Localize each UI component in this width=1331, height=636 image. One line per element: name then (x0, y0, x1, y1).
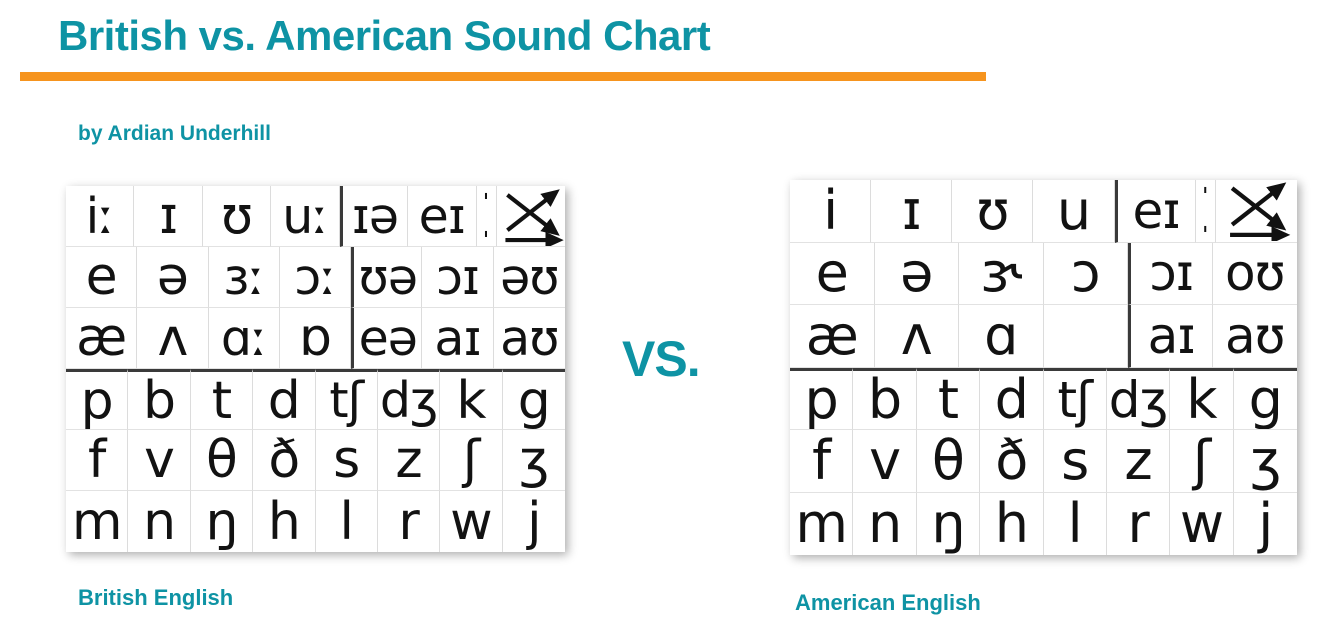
byline: by Ardian Underhill (78, 122, 271, 146)
ipa-row: æʌɑːɒeəaɪaʊ (66, 308, 565, 369)
ipa-symbol: eɪ (1133, 186, 1180, 236)
ipa-symbol: æ (76, 312, 126, 364)
ipa-symbol: g (1249, 373, 1282, 427)
vs-label: VS. (622, 330, 700, 388)
ipa-row: mnŋhlrwj (790, 493, 1297, 556)
ipa-cell-v[interactable]: v (853, 430, 916, 493)
ipa-symbol: l (1068, 497, 1082, 551)
ipa-symbol: ʃ (463, 434, 479, 486)
chart-block-american: iɪʊueɪˈˌeəɝɔɔɪoʊæʌɑaɪaʊpbtdtʃdʒkgfvθðszʃ… (790, 180, 1297, 555)
ipa-symbol: i (823, 184, 837, 238)
ipa-cell-s[interactable]: s (1044, 430, 1107, 493)
ipa-cell-aʊ[interactable]: aʊ (1213, 305, 1298, 368)
ipa-row: æʌɑaɪaʊ (790, 305, 1297, 368)
ipa-cell-l[interactable]: l (316, 491, 378, 552)
ipa-cell-ʊ[interactable]: ʊ (952, 180, 1033, 243)
ipa-cell-w[interactable]: w (440, 491, 502, 552)
ipa-symbol: w (1180, 497, 1223, 551)
ipa-cell-ɪ[interactable]: ɪ (871, 180, 952, 243)
ipa-cell-m[interactable]: m (66, 491, 128, 552)
ipa-cell-b[interactable]: b (853, 368, 916, 431)
ipa-symbol: oʊ (1225, 248, 1284, 298)
ipa-symbol: eə (359, 314, 417, 363)
ipa-symbol: ʃ (1193, 434, 1210, 488)
ipa-symbol: ʌ (158, 312, 188, 364)
ipa-cell-dʒ[interactable]: dʒ (378, 369, 440, 430)
ipa-cell-aɪ[interactable]: aɪ (422, 308, 493, 369)
ipa-symbol: t (212, 375, 231, 427)
ipa-symbol: s (333, 434, 359, 486)
ipa-symbol: n (868, 497, 901, 551)
ipa-cell-ɝ[interactable]: ɝ (959, 243, 1044, 306)
ipa-cell-ɔː[interactable]: ɔː (280, 247, 351, 308)
ipa-symbol: ɔɪ (1149, 248, 1193, 298)
ipa-cell-aʊ[interactable]: aʊ (494, 308, 565, 369)
ipa-symbol: ð (268, 434, 299, 486)
ipa-cell-j[interactable]: j (1234, 493, 1297, 556)
ipa-cell-ʊ[interactable]: ʊ (203, 186, 271, 247)
ipa-cell-ə[interactable]: ə (137, 247, 208, 308)
ipa-cell-ɑ[interactable]: ɑ (959, 305, 1044, 368)
ipa-symbol: t (938, 373, 958, 427)
ipa-symbol: ʌ (901, 309, 932, 363)
ipa-symbol: d (995, 373, 1028, 427)
ipa-symbol: b (868, 373, 901, 427)
ipa-row: pbtdtʃdʒkg (790, 368, 1297, 431)
ipa-cell-ŋ[interactable]: ŋ (917, 493, 980, 556)
ipa-cell-d[interactable]: d (253, 369, 315, 430)
ipa-row: fvθðszʃʒ (66, 430, 565, 491)
ipa-cell-j[interactable]: j (503, 491, 565, 552)
ipa-symbol: ə (157, 251, 188, 303)
ipa-cell-p[interactable]: p (66, 369, 128, 430)
ipa-symbol: j (527, 496, 540, 548)
ipa-cell-aɪ[interactable]: aɪ (1128, 305, 1213, 368)
ipa-cell-intonation[interactable] (1216, 180, 1297, 243)
ipa-symbol: uː (282, 192, 328, 241)
ipa-row: eəɜːɔːʊəɔɪəʊ (66, 247, 565, 308)
ipa-symbol: ɪə (352, 192, 398, 241)
ipa-cell-h[interactable]: h (253, 491, 315, 552)
ipa-row: eəɝɔɔɪoʊ (790, 243, 1297, 306)
ipa-cell-e[interactable]: e (66, 247, 137, 308)
ipa-symbol: ʒ (519, 434, 548, 486)
ipa-cell-g[interactable]: g (503, 369, 565, 430)
ipa-cell-m[interactable]: m (790, 493, 853, 556)
ipa-cell-f[interactable]: f (66, 430, 128, 491)
ipa-cell-n[interactable]: n (853, 493, 916, 556)
ipa-symbol: əʊ (500, 253, 558, 302)
ipa-cell-ɔ[interactable]: ɔ (1044, 243, 1129, 306)
ipa-cell-ɪ[interactable]: ɪ (134, 186, 202, 247)
ipa-cell-uː[interactable]: uː (271, 186, 339, 247)
secondary-stress-mark: ˌ (483, 222, 490, 235)
ipa-row: mnŋhlrwj (66, 491, 565, 552)
ipa-symbol: p (805, 373, 838, 427)
ipa-row: iɪʊueɪˈˌ (790, 180, 1297, 243)
primary-stress-mark: ˈ (483, 197, 490, 210)
ipa-symbol: aɪ (434, 314, 480, 363)
ipa-symbol: θ (932, 434, 964, 488)
ipa-cell-oʊ[interactable]: oʊ (1213, 243, 1298, 306)
ipa-cell-s[interactable]: s (316, 430, 378, 491)
ipa-cell-n[interactable]: n (128, 491, 190, 552)
chart-caption-american: American English (795, 590, 981, 616)
ipa-cell-tʃ[interactable]: tʃ (316, 369, 378, 430)
ipa-symbol: ɑː (221, 314, 267, 363)
ipa-cell-ð[interactable]: ð (980, 430, 1043, 493)
ipa-cell-r[interactable]: r (378, 491, 440, 552)
ipa-symbol: l (339, 496, 352, 548)
ipa-symbol: ɪ (902, 184, 921, 238)
ipa-cell-ʒ[interactable]: ʒ (503, 430, 565, 491)
ipa-symbol: v (144, 434, 174, 486)
ipa-cell-ɔɪ[interactable]: ɔɪ (1128, 243, 1213, 306)
intonation-arrows-icon (1217, 180, 1296, 241)
ipa-cell-ʌ[interactable]: ʌ (137, 308, 208, 369)
ipa-symbol: e (86, 251, 117, 303)
ipa-symbol: j (1258, 497, 1272, 551)
ipa-cell-z[interactable]: z (378, 430, 440, 491)
ipa-cell-ʃ[interactable]: ʃ (1170, 430, 1233, 493)
ipa-cell-z[interactable]: z (1107, 430, 1170, 493)
ipa-symbol: iː (86, 192, 114, 241)
ipa-cell-tʃ[interactable]: tʃ (1044, 368, 1107, 431)
ipa-symbol: ʊə (359, 253, 417, 302)
ipa-symbol: eɪ (419, 192, 465, 241)
ipa-symbol: tʃ (329, 376, 363, 425)
ipa-cell-intonation[interactable] (497, 186, 565, 247)
ipa-symbol: ɔɪ (436, 253, 479, 302)
ipa-cell-empty[interactable] (1044, 305, 1129, 368)
ipa-grid-british: iːɪʊuːɪəeɪˈˌeəɜːɔːʊəɔɪəʊæʌɑːɒeəaɪaʊpbtdt… (66, 186, 565, 552)
intonation-arrows-icon (498, 187, 564, 246)
ipa-symbol: p (81, 375, 113, 427)
ipa-symbol: u (1057, 184, 1090, 238)
ipa-cell-e[interactable]: e (790, 243, 875, 306)
ipa-cell-ɔɪ[interactable]: ɔɪ (422, 247, 493, 308)
ipa-cell-w[interactable]: w (1170, 493, 1233, 556)
ipa-symbol: ɪ (159, 190, 177, 242)
chart-caption-british: British English (78, 585, 233, 611)
ipa-symbol: g (518, 375, 550, 427)
ipa-cell-ə[interactable]: ə (875, 243, 960, 306)
ipa-symbol: k (1186, 373, 1216, 427)
ipa-row: iːɪʊuːɪəeɪˈˌ (66, 186, 565, 247)
ipa-cell-d[interactable]: d (980, 368, 1043, 431)
ipa-symbol: ŋ (931, 497, 964, 551)
ipa-cell-eə[interactable]: eə (351, 308, 422, 369)
ipa-cell-t[interactable]: t (191, 369, 253, 430)
ipa-row: pbtdtʃdʒkg (66, 369, 565, 430)
ipa-symbol: n (143, 496, 175, 548)
ipa-cell-ɜː[interactable]: ɜː (209, 247, 280, 308)
ipa-cell-ʃ[interactable]: ʃ (440, 430, 502, 491)
ipa-cell-r[interactable]: r (1107, 493, 1170, 556)
ipa-symbol: θ (206, 434, 237, 486)
ipa-cell-b[interactable]: b (128, 369, 190, 430)
ipa-cell-eɪ[interactable]: eɪ (1115, 180, 1196, 243)
ipa-cell-stress-marks[interactable]: ˈˌ (1196, 180, 1216, 243)
ipa-cell-h[interactable]: h (980, 493, 1043, 556)
ipa-symbol: e (816, 246, 848, 300)
ipa-symbol: w (450, 496, 492, 548)
ipa-symbol: b (143, 375, 175, 427)
ipa-cell-l[interactable]: l (1044, 493, 1107, 556)
page-title: British vs. American Sound Chart (58, 12, 710, 60)
ipa-cell-ŋ[interactable]: ŋ (191, 491, 253, 552)
ipa-grid-american: iɪʊueɪˈˌeəɝɔɔɪoʊæʌɑaɪaʊpbtdtʃdʒkgfvθðszʃ… (790, 180, 1297, 555)
ipa-cell-ɪə[interactable]: ɪə (340, 186, 408, 247)
ipa-symbol: m (795, 497, 847, 551)
ipa-cell-iː[interactable]: iː (66, 186, 134, 247)
ipa-symbol: ɒ (299, 312, 331, 364)
ipa-symbol: h (268, 496, 300, 548)
ipa-symbol: aʊ (500, 314, 558, 363)
ipa-cell-i[interactable]: i (790, 180, 871, 243)
ipa-symbol: r (398, 496, 418, 548)
ipa-symbol: dʒ (380, 376, 437, 425)
ipa-symbol: f (88, 434, 105, 486)
ipa-symbol: z (1124, 434, 1151, 488)
ipa-symbol: ə (900, 246, 932, 300)
ipa-symbol: h (995, 497, 1028, 551)
ipa-symbol: ʊ (976, 184, 1008, 238)
ipa-symbol: ɜː (223, 253, 264, 302)
ipa-symbol: ð (995, 434, 1027, 488)
ipa-symbol: ɔ (1071, 246, 1100, 300)
ipa-cell-əʊ[interactable]: əʊ (494, 247, 565, 308)
ipa-symbol: aʊ (1225, 311, 1285, 361)
ipa-symbol: f (812, 434, 830, 488)
ipa-cell-eɪ[interactable]: eɪ (408, 186, 476, 247)
ipa-symbol: ɔː (294, 253, 335, 302)
ipa-cell-f[interactable]: f (790, 430, 853, 493)
ipa-symbol: r (1127, 497, 1148, 551)
ipa-symbol: æ (806, 309, 858, 363)
ipa-row: fvθðszʃʒ (790, 430, 1297, 493)
ipa-symbol: tʃ (1057, 375, 1091, 425)
ipa-symbol: v (869, 434, 900, 488)
ipa-symbol: s (1061, 434, 1088, 488)
ipa-cell-ʊə[interactable]: ʊə (351, 247, 422, 308)
ipa-symbol: k (456, 375, 485, 427)
ipa-cell-ʌ[interactable]: ʌ (875, 305, 960, 368)
ipa-cell-θ[interactable]: θ (917, 430, 980, 493)
ipa-cell-æ[interactable]: æ (66, 308, 137, 369)
ipa-cell-θ[interactable]: θ (191, 430, 253, 491)
title-underline-rule (20, 72, 986, 81)
ipa-cell-dʒ[interactable]: dʒ (1107, 368, 1170, 431)
ipa-cell-g[interactable]: g (1234, 368, 1297, 431)
ipa-cell-u[interactable]: u (1033, 180, 1114, 243)
ipa-symbol: ɝ (980, 246, 1021, 300)
ipa-cell-k[interactable]: k (440, 369, 502, 430)
ipa-symbol: ʊ (221, 190, 252, 242)
secondary-stress-mark: ˌ (1202, 217, 1209, 230)
ipa-cell-v[interactable]: v (128, 430, 190, 491)
ipa-cell-stress-marks[interactable]: ˈˌ (477, 186, 497, 247)
ipa-cell-p[interactable]: p (790, 368, 853, 431)
ipa-symbol: dʒ (1109, 375, 1168, 425)
ipa-symbol: z (395, 434, 421, 486)
ipa-symbol: ɑ (984, 309, 1017, 363)
ipa-symbol: ʒ (1250, 434, 1280, 488)
ipa-symbol: aɪ (1148, 311, 1195, 361)
ipa-symbol: ŋ (205, 496, 237, 548)
ipa-cell-æ[interactable]: æ (790, 305, 875, 368)
ipa-cell-t[interactable]: t (917, 368, 980, 431)
ipa-cell-ð[interactable]: ð (253, 430, 315, 491)
ipa-symbol: d (268, 375, 300, 427)
ipa-cell-ɑː[interactable]: ɑː (209, 308, 280, 369)
ipa-symbol: m (72, 496, 122, 548)
ipa-cell-k[interactable]: k (1170, 368, 1233, 431)
chart-block-british: iːɪʊuːɪəeɪˈˌeəɜːɔːʊəɔɪəʊæʌɑːɒeəaɪaʊpbtdt… (66, 186, 565, 552)
primary-stress-mark: ˈ (1202, 191, 1209, 204)
ipa-cell-ʒ[interactable]: ʒ (1234, 430, 1297, 493)
ipa-cell-ɒ[interactable]: ɒ (280, 308, 351, 369)
